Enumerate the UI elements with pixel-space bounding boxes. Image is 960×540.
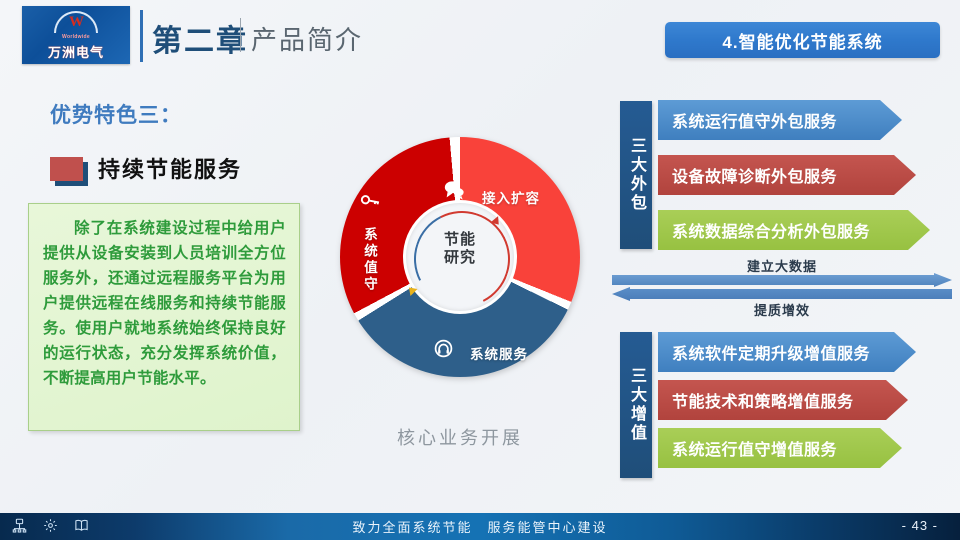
group-label-valueadd: 三大增值 xyxy=(620,332,652,478)
valueadd-item-2[interactable]: 节能技术和策略增值服务 xyxy=(658,380,908,420)
chat-bubble-icon xyxy=(443,179,465,201)
group-label-outsourcing: 三大外包 xyxy=(620,101,652,249)
description-text: 除了在系统建设过程中给用户提供从设备安装到人员培训全方位服务外，还通过远程服务平… xyxy=(43,216,286,391)
logo-emblem-icon: W xyxy=(54,11,98,33)
arrow-left-icon xyxy=(612,287,952,301)
donut-segment-label-3: 系统值守 xyxy=(360,227,378,293)
donut-center-line2: 研究 xyxy=(444,249,476,266)
slide-footer: 致力全面系统节能 服务能管中心建设 - 43 - xyxy=(0,513,960,540)
donut-segment-label-2: 系统服务 xyxy=(470,343,528,363)
valueadd-item-3[interactable]: 系统运行值守增值服务 xyxy=(658,428,902,468)
chapter-subtitle: 产品简介 xyxy=(251,20,363,57)
valueadd-item-1[interactable]: 系统软件定期升级增值服务 xyxy=(658,332,916,372)
logo-english-text: Worldwide xyxy=(62,34,90,40)
section-banner: 4.智能优化节能系统 xyxy=(665,22,940,58)
outsourcing-item-1[interactable]: 系统运行值守外包服务 xyxy=(658,100,902,140)
feature-label: 优势特色三： xyxy=(50,99,182,129)
flow-label-left: 提质增效 xyxy=(608,300,956,319)
outsourcing-item-2[interactable]: 设备故障诊断外包服务 xyxy=(658,155,916,195)
page-number: - 43 - xyxy=(902,518,938,533)
headset-icon xyxy=(434,339,453,358)
feature-name: 持续节能服务 xyxy=(98,152,242,184)
donut-center-label: 节能 研究 xyxy=(416,231,504,267)
flow-label-right: 建立大数据 xyxy=(608,256,956,275)
core-business-donut: 节能 研究 接入扩容 系统服务 系统值守 xyxy=(330,137,590,399)
footer-slogan: 致力全面系统节能 服务能管中心建设 xyxy=(0,513,960,540)
logo-chinese-text: 万洲电气 xyxy=(48,42,104,61)
flow-arrows: 建立大数据 提质增效 xyxy=(608,256,956,318)
chapter-title: 第二章 xyxy=(152,16,248,60)
slide-header: W Worldwide 万洲电气 第二章 产品简介 4.智能优化节能系统 xyxy=(0,0,960,74)
header-separator xyxy=(240,18,241,52)
logo-letter: W xyxy=(54,13,98,31)
description-box: 除了在系统建设过程中给用户提供从设备安装到人员培训全方位服务外，还通过远程服务平… xyxy=(28,203,300,431)
arrow-right-icon xyxy=(612,273,952,287)
donut-caption: 核心业务开展 xyxy=(330,424,590,450)
donut-center-line1: 节能 xyxy=(444,231,476,248)
donut-segment-label-1: 接入扩容 xyxy=(482,187,540,207)
bullet-square-icon xyxy=(50,157,86,183)
header-accent-bar xyxy=(140,10,143,62)
outsourcing-item-3[interactable]: 系统数据综合分析外包服务 xyxy=(658,210,930,250)
slide-canvas: W Worldwide 万洲电气 第二章 产品简介 4.智能优化节能系统 优势特… xyxy=(0,0,960,540)
company-logo: W Worldwide 万洲电气 xyxy=(22,6,130,64)
